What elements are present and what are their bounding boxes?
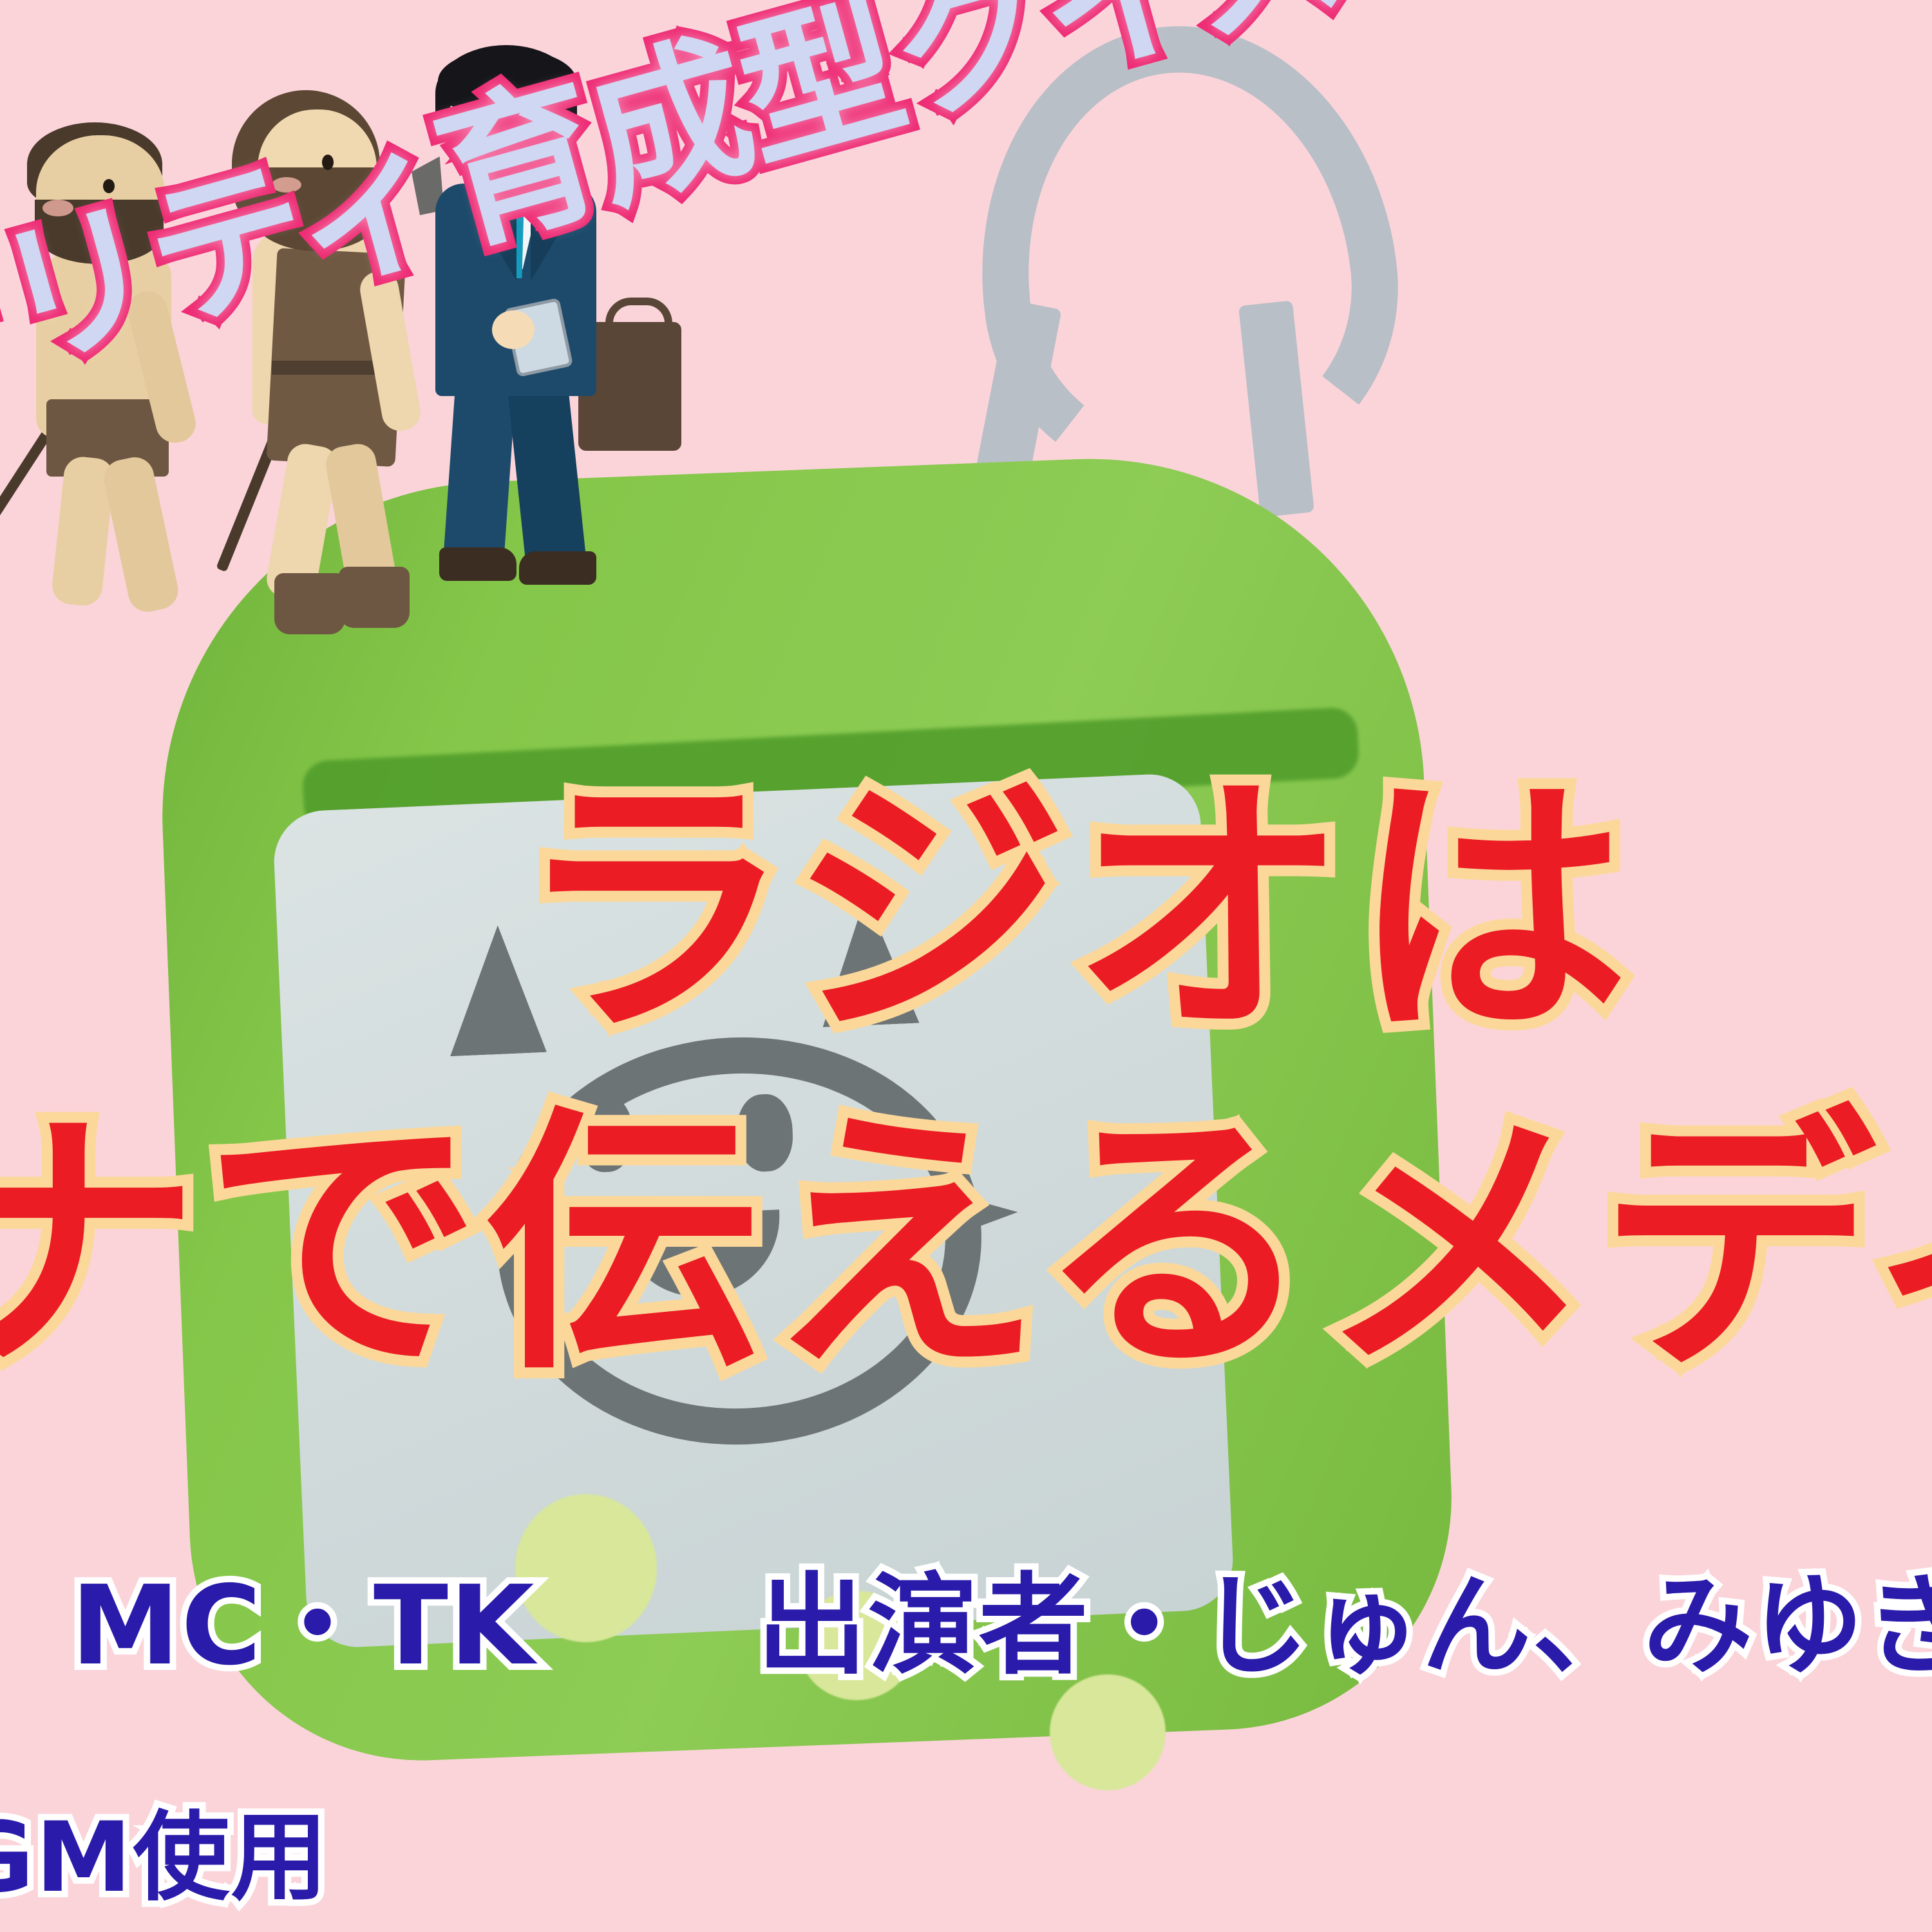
businessman-shoe-back xyxy=(439,547,516,581)
credits-line: MC・TK 出演者・じゅん、みゆき xyxy=(71,1571,1932,1681)
businessman-leg-back xyxy=(443,378,516,562)
hunter-boot-front xyxy=(339,567,410,628)
main-title-line-1: ラジオは xyxy=(515,773,1633,1050)
thumbnail-canvas: ーリティ育成型クイズ！ ラジオは ナで伝えるメディ MC・TK 出演者・じゅん、… xyxy=(0,0,1932,1932)
businessman-hand xyxy=(492,310,535,349)
device-button-3[interactable] xyxy=(1050,1674,1166,1790)
caveman-leg-front xyxy=(100,454,182,616)
bgm-note: GM使用 xyxy=(0,1810,328,1906)
main-title-line-2: ナで伝えるメディ xyxy=(0,1108,1932,1385)
businessman-shoe-front xyxy=(519,551,596,585)
hunter-boot-back xyxy=(274,573,345,634)
businessman-leg-front xyxy=(507,377,587,569)
